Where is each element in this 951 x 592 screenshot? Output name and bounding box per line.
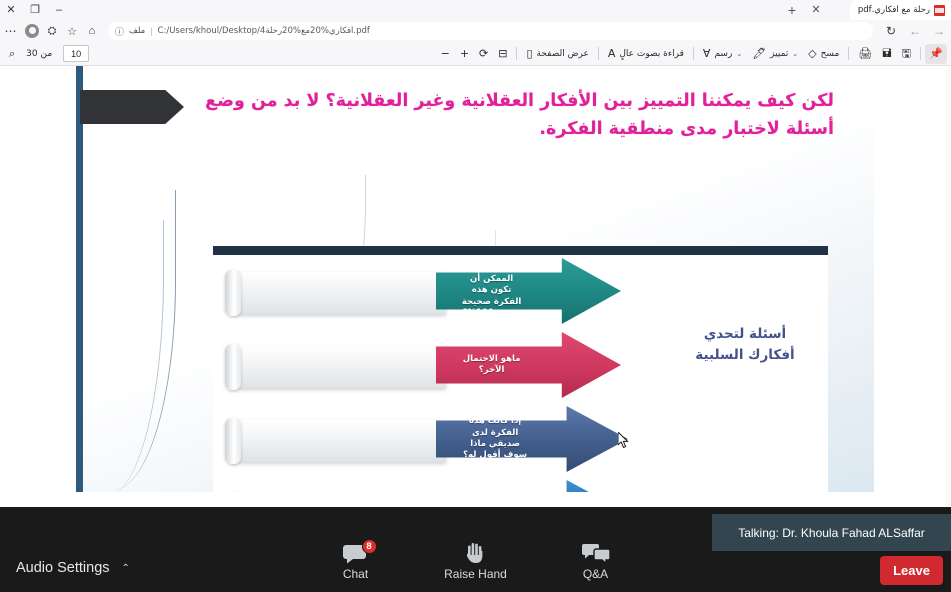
scroll-paper [231, 272, 446, 314]
rotate-button[interactable]: ⟳ [474, 44, 493, 64]
erase-button[interactable]: مسح ◇ [803, 44, 844, 64]
new-tab-button[interactable]: + [784, 2, 800, 18]
highlighter-icon: 🖊 [752, 48, 766, 59]
highlight-label: تمييز [770, 49, 788, 59]
tab-title: رحلة مع أفكاري.pdf [858, 5, 930, 15]
toolbar-divider [848, 47, 849, 60]
tab-close-icon[interactable]: ✕ [808, 2, 824, 18]
pdf-viewer[interactable]: لكن كيف يمكننا التمييز بين الأفكار العقل… [0, 66, 951, 507]
site-info-icon[interactable]: ⓘ [115, 25, 124, 38]
save-as-button[interactable]: 🖫 [897, 44, 916, 64]
chat-label: Chat [343, 567, 368, 581]
slide-figure: هل من الممكن أن تكون هذه الفكرة صحيحة بن… [213, 246, 828, 492]
figure-top-bar [213, 246, 828, 255]
browser-settings-icon[interactable]: ⋯ [0, 22, 22, 40]
tab-strip: ✕ ❐ – + ✕ رحلة مع أفكاري.pdf [0, 0, 951, 20]
collections-icon[interactable]: ⛭ [42, 22, 62, 40]
pdf-page: لكن كيف يمكننا التمييز بين الأفكار العقل… [76, 66, 874, 492]
pin-toolbar-icon[interactable]: 📌 [925, 44, 947, 64]
figure-caption: أسئلة لتحدي أفكارك السلبية [680, 324, 810, 366]
address-bar-row: → ← ↻ ⓘ ملف | C:/Users/khoul/Desktop/4أف… [0, 20, 951, 42]
question-arrow-2: ماهو الاحتمال الآخر؟ [436, 332, 621, 398]
browser-tab[interactable]: رحلة مع أفكاري.pdf [850, 0, 951, 20]
fit-page-icon: ⊟ [498, 48, 507, 59]
chat-unread-badge: 8 [362, 539, 377, 554]
question-arrow-1: هل من الممكن أن تكون هذه الفكرة صحيحة بن… [436, 258, 621, 324]
read-aloud-button[interactable]: قراءة بصوت عالٍ A [603, 44, 689, 64]
page-total-label: من 30 [26, 49, 52, 59]
chat-button[interactable]: 8 Chat [320, 542, 392, 581]
save-button[interactable]: 🖬 [877, 44, 896, 64]
qa-icon [582, 542, 610, 564]
eraser-icon: ◇ [808, 48, 816, 59]
minus-icon: − [441, 48, 450, 59]
toolbar-divider [920, 47, 921, 60]
address-scheme-label: ملف [129, 26, 145, 36]
pen-icon: ∀ [703, 48, 711, 59]
print-icon: 🖨 [858, 48, 872, 59]
browser-chrome: ✕ ❐ – + ✕ رحلة مع أفكاري.pdf → ← ↻ ⓘ ملف… [0, 0, 951, 66]
fit-page-button[interactable]: ⊟ [493, 44, 512, 64]
print-button[interactable]: 🖨 [853, 44, 877, 64]
page-number-input[interactable]: 10 [63, 45, 89, 62]
raise-hand-label: Raise Hand [444, 567, 507, 581]
page-view-label: عرض الصفحة [537, 49, 589, 59]
zoom-in-button[interactable]: + [455, 44, 474, 64]
question-arrow-4: ماهي الفكرة الأكثر فائدة بالنسبة لي؟ [436, 480, 628, 492]
forward-icon[interactable]: → [927, 21, 951, 41]
back-icon[interactable]: ← [903, 21, 927, 41]
pdf-toolbar: 📌 🖫 🖬 🖨 مسح ◇ ⌄ تمييز 🖊 ⌄ [0, 42, 951, 66]
leave-meeting-button[interactable]: Leave [880, 556, 943, 585]
qa-label: Q&A [583, 567, 608, 581]
slide-heading: لكن كيف يمكننا التمييز بين الأفكار العقل… [156, 87, 834, 144]
search-button[interactable]: ⌕ [4, 44, 20, 64]
read-aloud-label: قراءة بصوت عالٍ [619, 49, 684, 59]
question-arrow-3: إذا كانت هذه الفكرة لدى صديقي ماذا سوف أ… [436, 406, 628, 472]
rotate-icon: ⟳ [479, 48, 488, 59]
window-maximize-icon[interactable]: ❐ [26, 1, 44, 19]
slide-left-accent-bar [76, 66, 83, 492]
draw-button[interactable]: ⌄ رسم ∀ [698, 44, 747, 64]
refresh-icon[interactable]: ↻ [879, 21, 903, 41]
address-separator: | [150, 26, 152, 36]
chevron-down-icon[interactable]: ⌄ [736, 50, 742, 58]
screen: ✕ ❐ – + ✕ رحلة مع أفكاري.pdf → ← ↻ ⓘ ملف… [0, 0, 951, 592]
search-icon: ⌕ [9, 48, 15, 59]
toolbar-divider [598, 47, 599, 60]
toolbar-divider [693, 47, 694, 60]
highlight-button[interactable]: ⌄ تمييز 🖊 [747, 44, 803, 64]
read-aloud-icon: A [608, 48, 616, 59]
raise-hand-button[interactable]: Raise Hand [440, 542, 512, 581]
viewer-scrollbar[interactable] [946, 66, 951, 507]
window-close-icon[interactable]: ✕ [2, 1, 20, 19]
page-view-button[interactable]: عرض الصفحة ▯ [521, 44, 593, 64]
profile-avatar[interactable] [25, 24, 39, 38]
qa-button[interactable]: Q&A [560, 542, 632, 581]
favorite-star-icon[interactable]: ☆ [62, 22, 82, 40]
window-minimize-icon[interactable]: – [50, 1, 68, 19]
address-url-text: C:/Users/khoul/Desktop/4أفكاري%20مع%20رح… [158, 26, 866, 36]
read-aloud-icon[interactable]: ⌂ [82, 22, 102, 40]
toolbar-divider [516, 47, 517, 60]
raise-hand-icon [465, 542, 487, 564]
draw-label: رسم [714, 49, 732, 59]
save-icon: 🖬 [882, 48, 891, 59]
save-as-icon: 🖫 [902, 48, 911, 59]
pdf-favicon [934, 5, 945, 16]
scroll-paper [231, 346, 446, 388]
zoom-out-button[interactable]: − [436, 44, 455, 64]
page-view-icon: ▯ [526, 48, 532, 59]
plus-icon: + [460, 48, 469, 59]
address-bar[interactable]: ⓘ ملف | C:/Users/khoul/Desktop/4أفكاري%2… [108, 22, 873, 40]
erase-label: مسح [821, 49, 840, 59]
zoom-center-controls: 8 Chat Raise Hand [0, 542, 951, 592]
chevron-down-icon[interactable]: ⌄ [792, 50, 798, 58]
scroll-paper [231, 420, 446, 462]
